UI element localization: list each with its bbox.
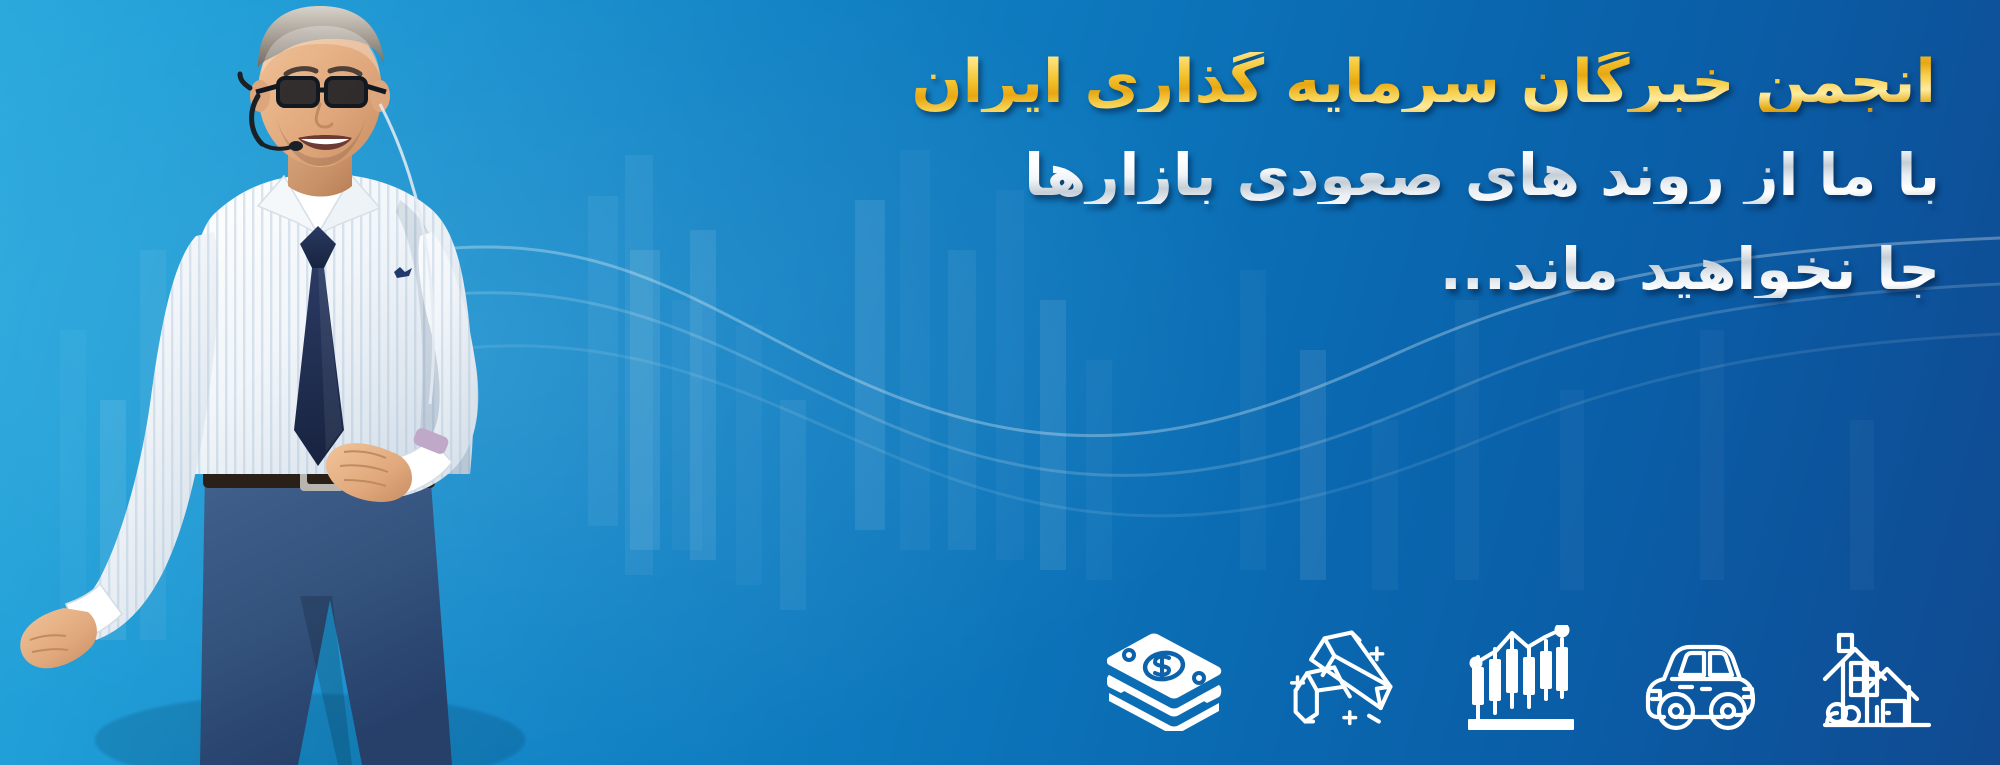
promo-banner: انجمن خبرگان سرمایه گذاری ایران با ما از… (0, 0, 2000, 765)
house-icon[interactable] (1818, 619, 1936, 731)
headline-group: انجمن خبرگان سرمایه گذاری ایران با ما از… (700, 52, 1940, 298)
gold-bars-icon[interactable] (1284, 619, 1402, 731)
asset-class-icon-row (1106, 619, 1936, 731)
presenter-photo (0, 0, 700, 765)
headline-line-3: جا نخواهید ماند... (700, 240, 1940, 298)
car-icon[interactable] (1640, 619, 1758, 731)
cash-stack-icon[interactable] (1106, 619, 1224, 731)
candlestick-chart-icon[interactable] (1462, 619, 1580, 731)
headline-line-2: با ما از روند های صعودی بازارها (700, 146, 1940, 204)
headline-line-1: انجمن خبرگان سرمایه گذاری ایران (700, 52, 1940, 112)
